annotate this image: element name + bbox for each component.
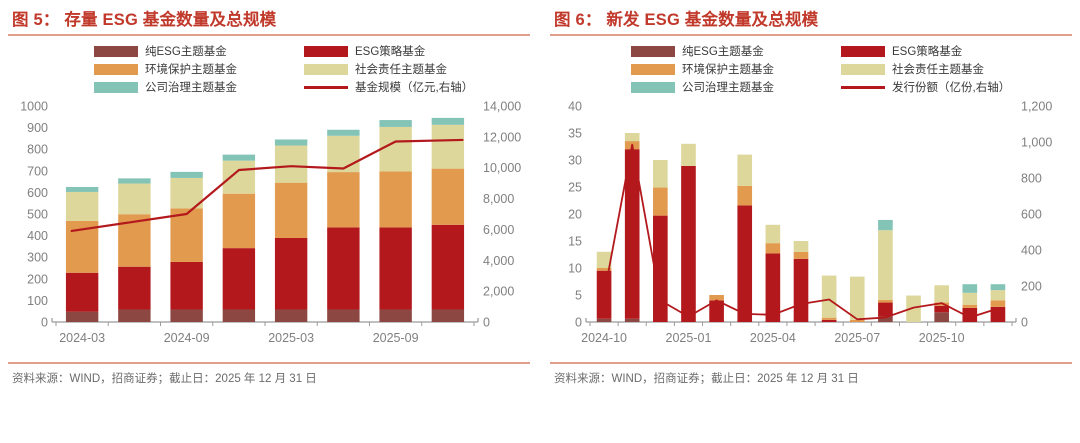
y2-axis-tick-label: 10,000: [483, 161, 521, 175]
legend-item-social: 社会责任主题基金: [841, 60, 1071, 78]
legend-item-esg-strategy: ESG策略基金: [841, 42, 1071, 60]
y2-axis-tick-label: 14,000: [483, 100, 521, 114]
bar-segment: [275, 309, 307, 322]
figure-5-source: 资料来源：WIND，招商证券；截止日：2025 年 12 月 31 日: [8, 364, 530, 386]
y-axis-tick-label: 800: [27, 143, 48, 157]
bar-segment: [794, 259, 809, 322]
bar-segment: [432, 309, 464, 322]
figure-5-title-rule: [8, 34, 530, 36]
figure-5-panel: 图 5： 存量 ESG 基金数量及总规模 纯ESG主题基金 ESG策略基金 环境…: [0, 0, 540, 443]
legend-swatch-governance: [631, 82, 675, 93]
y-axis-tick-label: 25: [568, 181, 582, 195]
bar-segment: [991, 300, 1006, 306]
bar-segment: [962, 305, 977, 308]
y-axis-tick-label: 300: [27, 251, 48, 265]
y-axis-tick-label: 35: [568, 127, 582, 141]
legend-swatch-esg-strategy: [841, 46, 885, 57]
legend-label-pure-esg: 纯ESG主题基金: [145, 43, 227, 59]
bar-segment: [66, 273, 98, 312]
y2-axis-tick-label: 400: [1021, 244, 1042, 258]
bar-segment: [223, 194, 255, 248]
bar-segment: [653, 160, 668, 188]
bar-segment: [794, 252, 809, 259]
bar-segment: [878, 220, 893, 230]
y2-axis-tick-label: 2,000: [483, 285, 514, 299]
bar-segment: [878, 300, 893, 303]
y-axis-tick-label: 0: [41, 316, 48, 330]
bar-segment: [118, 309, 150, 322]
bar-segment: [432, 169, 464, 225]
y-axis-tick-label: 40: [568, 100, 582, 114]
y2-axis-tick-label: 200: [1021, 280, 1042, 294]
y2-axis-tick-label: 800: [1021, 172, 1042, 186]
bar-segment: [379, 171, 411, 227]
y-axis-tick-label: 20: [568, 208, 582, 222]
legend-item-social: 社会责任主题基金: [304, 60, 534, 78]
bar-segment: [962, 284, 977, 293]
y-axis-tick-label: 600: [27, 186, 48, 200]
legend-label-environment: 环境保护主题基金: [145, 61, 237, 77]
legend-label-pure-esg: 纯ESG主题基金: [682, 43, 764, 59]
legend-swatch-social: [841, 64, 885, 75]
y-axis-tick-label: 400: [27, 229, 48, 243]
bar-segment: [432, 125, 464, 169]
legend-label-governance: 公司治理主题基金: [145, 79, 237, 95]
bar-segment: [597, 319, 612, 322]
bar-segment: [822, 318, 837, 320]
legend-item-governance: 公司治理主题基金: [94, 78, 304, 96]
legend-label-environment: 环境保护主题基金: [682, 61, 774, 77]
bar-segment: [170, 309, 202, 322]
legend-label-social: 社会责任主题基金: [355, 61, 447, 77]
figure-6-legend: 纯ESG主题基金 ESG策略基金 环境保护主题基金 社会责任主题基金 公司治理主…: [550, 42, 1072, 96]
bar-segment: [66, 312, 98, 322]
y-axis-tick-label: 500: [27, 208, 48, 222]
bar-segment: [737, 155, 752, 186]
bar-segment: [118, 178, 150, 183]
x-axis-tick-label: 2024-03: [59, 331, 105, 345]
y-axis-tick-label: 700: [27, 164, 48, 178]
bar-segment: [934, 285, 949, 302]
y2-axis-tick-label: 8,000: [483, 192, 514, 206]
legend-item-environment: 环境保护主题基金: [631, 60, 841, 78]
y-axis-tick-label: 100: [27, 294, 48, 308]
figure-5-legend: 纯ESG主题基金 ESG策略基金 环境保护主题基金 社会责任主题基金 公司治理主…: [8, 42, 530, 96]
y2-axis-tick-label: 0: [1021, 316, 1028, 330]
bar-segment: [934, 306, 949, 312]
legend-label-issue-share-line: 发行份额（亿份,右轴）: [892, 79, 1010, 95]
bar-segment: [653, 188, 668, 216]
y-axis-tick-label: 15: [568, 235, 582, 249]
bar-segment: [737, 186, 752, 205]
figures-page: 图 5： 存量 ESG 基金数量及总规模 纯ESG主题基金 ESG策略基金 环境…: [0, 0, 1080, 443]
x-axis-tick-label: 2024-10: [581, 331, 627, 345]
legend-label-esg-strategy: ESG策略基金: [355, 43, 425, 59]
legend-label-esg-strategy: ESG策略基金: [892, 43, 962, 59]
x-axis-tick-label: 2025-01: [666, 331, 712, 345]
legend-item-environment: 环境保护主题基金: [94, 60, 304, 78]
legend-label-governance: 公司治理主题基金: [682, 79, 774, 95]
bar-segment: [275, 183, 307, 238]
y-axis-tick-label: 200: [27, 272, 48, 286]
bar-segment: [170, 262, 202, 310]
bar-segment: [878, 303, 893, 317]
bar-segment: [766, 225, 781, 243]
bar-segment: [850, 277, 865, 320]
legend-swatch-pure-esg: [94, 46, 138, 57]
x-axis-tick-label: 2025-10: [919, 331, 965, 345]
figure-6-chart: 051015202530354002004006008001,0001,2002…: [550, 100, 1072, 358]
bar-segment: [327, 136, 359, 172]
y-axis-tick-label: 30: [568, 154, 582, 168]
legend-swatch-issue-share-line: [841, 86, 885, 89]
x-axis-tick-label: 2025-03: [268, 331, 314, 345]
figure-6-panel: 图 6： 新发 ESG 基金数量及总规模 纯ESG主题基金 ESG策略基金 环境…: [540, 0, 1080, 443]
bar-segment: [118, 184, 150, 215]
bar-segment: [327, 130, 359, 136]
y2-axis-tick-label: 1,200: [1021, 100, 1052, 114]
figure-5-title: 图 5： 存量 ESG 基金数量及总规模: [8, 0, 530, 34]
y-axis-tick-label: 10: [568, 262, 582, 276]
bar-segment: [223, 161, 255, 194]
figure-5-chart: 0100200300400500600700800900100002,0004,…: [8, 100, 530, 358]
bar-segment: [934, 312, 949, 322]
legend-swatch-governance: [94, 82, 138, 93]
bar-segment: [794, 241, 809, 252]
y-axis-tick-label: 5: [575, 289, 582, 303]
bar-segment: [223, 309, 255, 322]
bar-segment: [379, 120, 411, 127]
y2-axis-tick-label: 12,000: [483, 130, 521, 144]
bar-segment: [66, 187, 98, 192]
legend-item-fund-scale-line: 基金规模（亿元,右轴）: [304, 78, 534, 96]
legend-item-pure-esg: 纯ESG主题基金: [631, 42, 841, 60]
y-axis-tick-label: 900: [27, 121, 48, 135]
bar-segment: [991, 290, 1006, 300]
y2-axis-tick-label: 6,000: [483, 223, 514, 237]
bar-segment: [681, 166, 696, 322]
bar-segment: [822, 320, 837, 322]
bar-segment: [822, 276, 837, 318]
bar-segment: [275, 146, 307, 183]
bar-segment: [379, 309, 411, 322]
bar-segment: [170, 172, 202, 178]
figure-6-svg: 051015202530354002004006008001,0001,2002…: [550, 100, 1072, 356]
x-axis-tick-label: 2024-09: [164, 331, 210, 345]
bar-segment: [275, 238, 307, 309]
legend-item-governance: 公司治理主题基金: [631, 78, 841, 96]
bar-segment: [766, 243, 781, 253]
bar-segment: [327, 172, 359, 227]
legend-swatch-fund-scale-line: [304, 86, 348, 89]
legend-label-fund-scale-line: 基金规模（亿元,右轴）: [355, 79, 473, 95]
bar-segment: [379, 227, 411, 309]
bar-segment: [379, 127, 411, 171]
bar-segment: [118, 267, 150, 310]
figure-6-title: 图 6： 新发 ESG 基金数量及总规模: [550, 0, 1072, 34]
legend-item-issue-share-line: 发行份额（亿份,右轴）: [841, 78, 1071, 96]
legend-item-pure-esg: 纯ESG主题基金: [94, 42, 304, 60]
legend-item-esg-strategy: ESG策略基金: [304, 42, 534, 60]
figure-6-title-rule: [550, 34, 1072, 36]
legend-swatch-environment: [94, 64, 138, 75]
bar-segment: [737, 205, 752, 322]
bar-segment: [432, 225, 464, 310]
bar-segment: [991, 284, 1006, 290]
bar-segment: [878, 230, 893, 300]
legend-swatch-social: [304, 64, 348, 75]
legend-swatch-esg-strategy: [304, 46, 348, 57]
legend-label-social: 社会责任主题基金: [892, 61, 984, 77]
bar-segment: [223, 248, 255, 309]
bar-segment: [766, 253, 781, 322]
bar-segment: [625, 133, 640, 141]
y2-axis-tick-label: 600: [1021, 208, 1042, 222]
x-axis-tick-label: 2025-09: [373, 331, 419, 345]
y-axis-tick-label: 0: [575, 316, 582, 330]
bar-segment: [327, 309, 359, 322]
figure-6-source: 资料来源：WIND，招商证券；截止日：2025 年 12 月 31 日: [550, 364, 1072, 386]
bar-segment: [327, 227, 359, 309]
bar-segment: [223, 155, 255, 161]
bar-segment: [275, 139, 307, 145]
bar-segment: [681, 144, 696, 166]
y2-axis-tick-label: 0: [483, 316, 490, 330]
bar-segment: [66, 192, 98, 221]
x-axis-tick-label: 2025-04: [750, 331, 796, 345]
x-axis-tick-label: 2025-07: [834, 331, 880, 345]
y-axis-tick-label: 1000: [20, 100, 48, 114]
y2-axis-tick-label: 1,000: [1021, 136, 1052, 150]
legend-swatch-environment: [631, 64, 675, 75]
bar-segment: [962, 293, 977, 305]
figure-5-svg: 0100200300400500600700800900100002,0004,…: [8, 100, 530, 356]
bar-segment: [625, 319, 640, 322]
bar-segment: [432, 118, 464, 125]
y2-axis-tick-label: 4,000: [483, 254, 514, 268]
legend-swatch-pure-esg: [631, 46, 675, 57]
